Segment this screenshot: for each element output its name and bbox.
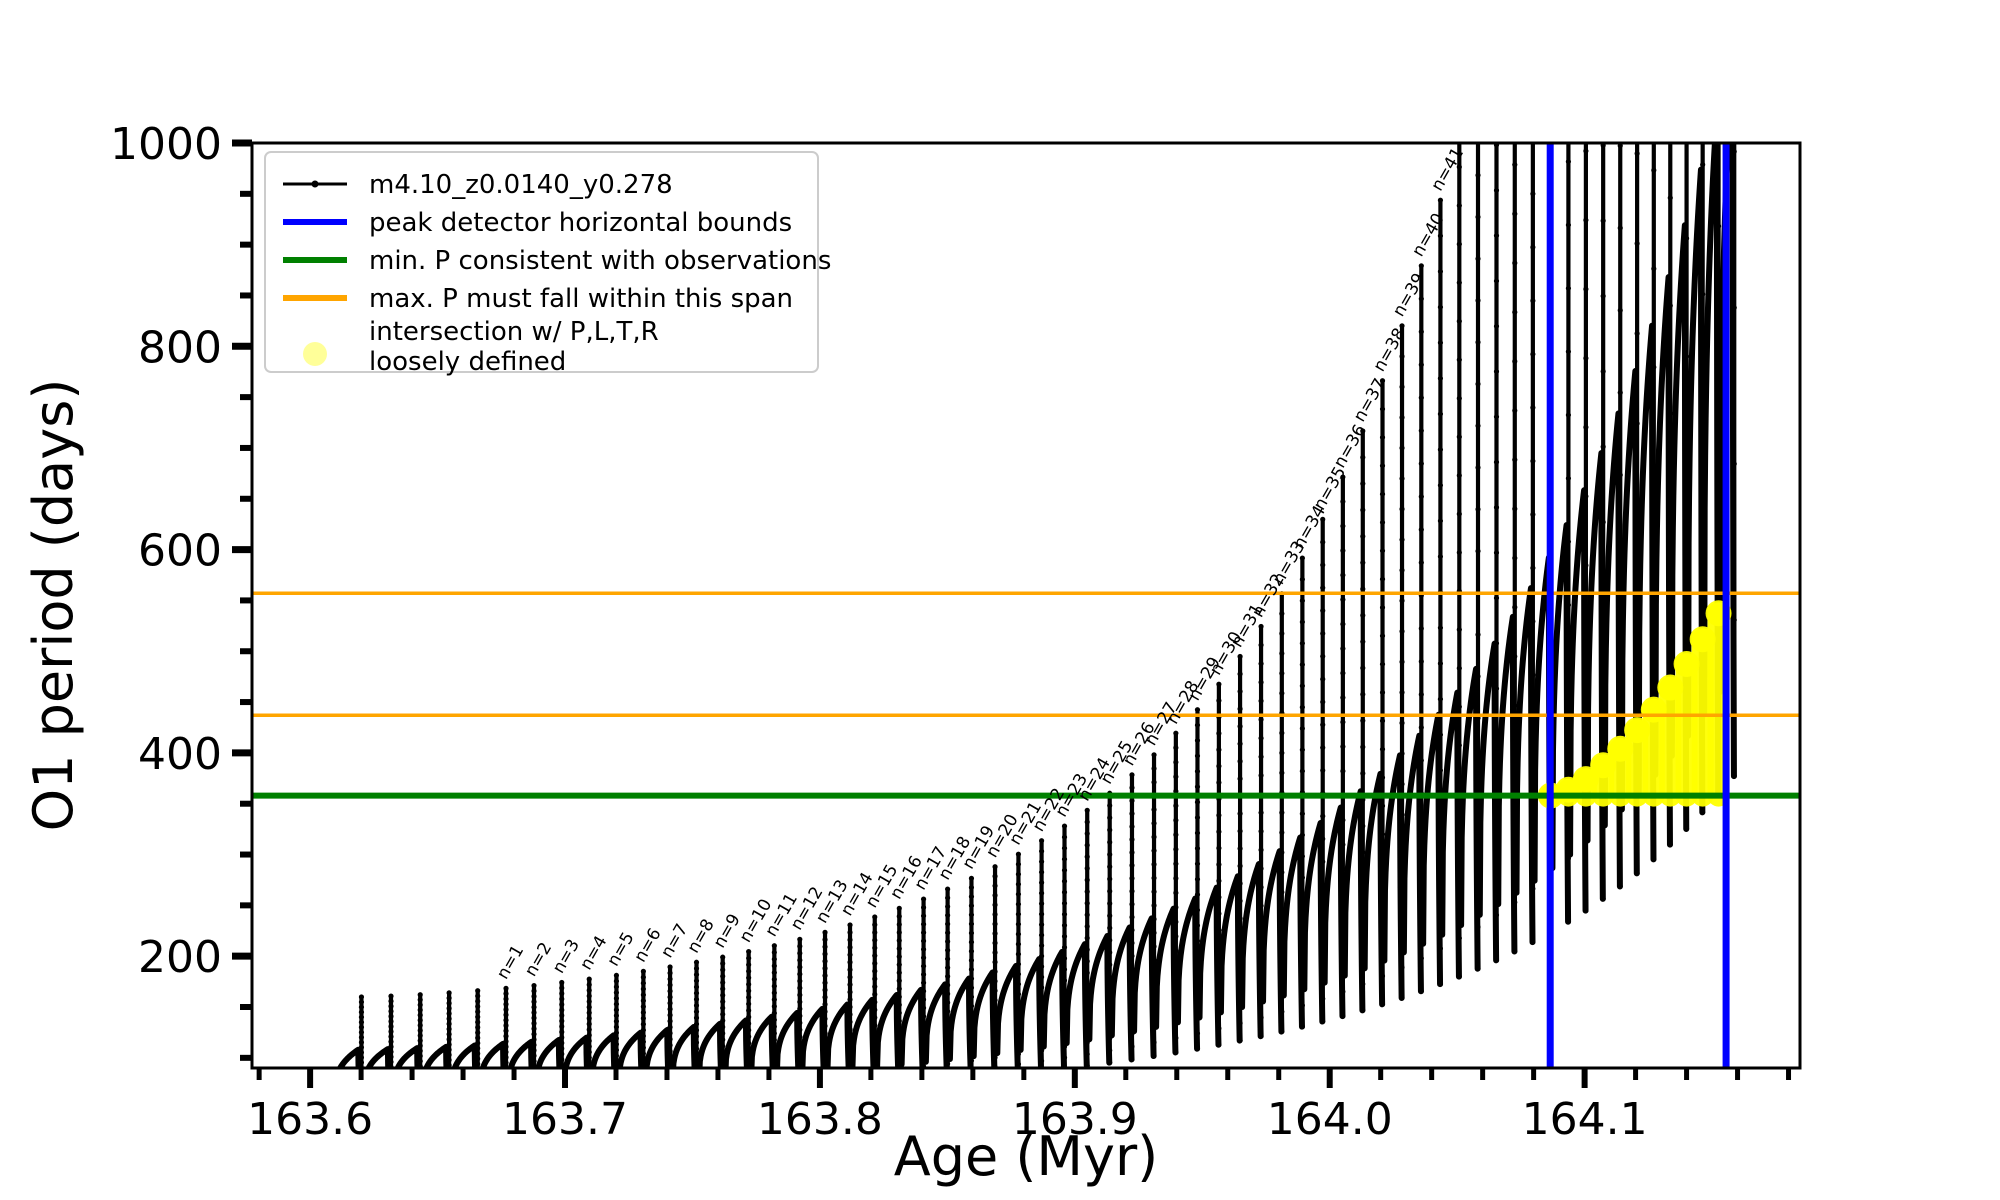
- svg-text:n=55: n=55: [1674, 95, 1715, 145]
- svg-text:n=49: n=49: [1573, 95, 1614, 145]
- svg-text:n=51: n=51: [1607, 95, 1648, 145]
- svg-text:n=1: n=1: [493, 942, 528, 983]
- svg-text:n=56: n=56: [1690, 95, 1731, 145]
- svg-text:n=39: n=39: [1389, 270, 1430, 320]
- legend-label: min. P consistent with observations: [369, 246, 831, 276]
- svg-text:n=2: n=2: [521, 939, 556, 980]
- svg-text:n=41: n=41: [1427, 144, 1468, 194]
- svg-text:n=53: n=53: [1641, 95, 1682, 145]
- chart-legend[interactable]: m4.10_z0.0140_y0.278peak detector horizo…: [265, 152, 831, 377]
- legend-label-line2: loosely defined: [369, 347, 566, 377]
- svg-text:n=4: n=4: [576, 933, 611, 974]
- x-tick-label: 164.0: [1267, 1094, 1393, 1145]
- svg-text:n=45: n=45: [1502, 95, 1543, 145]
- svg-text:n=52: n=52: [1624, 95, 1665, 145]
- svg-text:n=50: n=50: [1590, 95, 1631, 145]
- x-tick-label: 164.1: [1522, 1094, 1648, 1145]
- legend-label: intersection w/ P,L,T,R: [369, 317, 659, 347]
- svg-text:n=48: n=48: [1555, 95, 1596, 145]
- legend-label: m4.10_z0.0140_y0.278: [369, 170, 673, 200]
- svg-text:n=3: n=3: [549, 936, 584, 977]
- legend-label: max. P must fall within this span: [369, 284, 793, 314]
- y-tick-label: 1000: [110, 119, 222, 170]
- svg-text:n=46: n=46: [1520, 95, 1561, 145]
- y-tick-label: 800: [138, 322, 222, 373]
- legend-label: peak detector horizontal bounds: [369, 208, 792, 238]
- figure-canvas: n=1n=2n=3n=4n=5n=6n=7n=8n=9n=10n=11n=12n…: [0, 0, 2000, 1200]
- x-tick-label: 163.8: [757, 1094, 883, 1145]
- y-tick-label: 600: [138, 526, 222, 577]
- svg-text:n=47: n=47: [1538, 95, 1579, 145]
- x-tick-label: 163.7: [502, 1094, 628, 1145]
- svg-text:n=43: n=43: [1465, 95, 1506, 145]
- chart-svg: n=1n=2n=3n=4n=5n=6n=7n=8n=9n=10n=11n=12n…: [0, 0, 2000, 1200]
- svg-text:n=44: n=44: [1484, 95, 1525, 145]
- svg-text:n=57: n=57: [1706, 95, 1747, 145]
- legend-swatch-dot: [303, 342, 327, 366]
- y-axis-title: O1 period (days): [22, 379, 85, 832]
- svg-text:n=54: n=54: [1657, 95, 1698, 145]
- x-axis-title: Age (Myr): [894, 1125, 1159, 1188]
- x-tick-label: 163.6: [247, 1094, 373, 1145]
- y-tick-label: 400: [138, 729, 222, 780]
- y-tick-label: 200: [138, 932, 222, 983]
- svg-text:n=42: n=42: [1446, 95, 1487, 145]
